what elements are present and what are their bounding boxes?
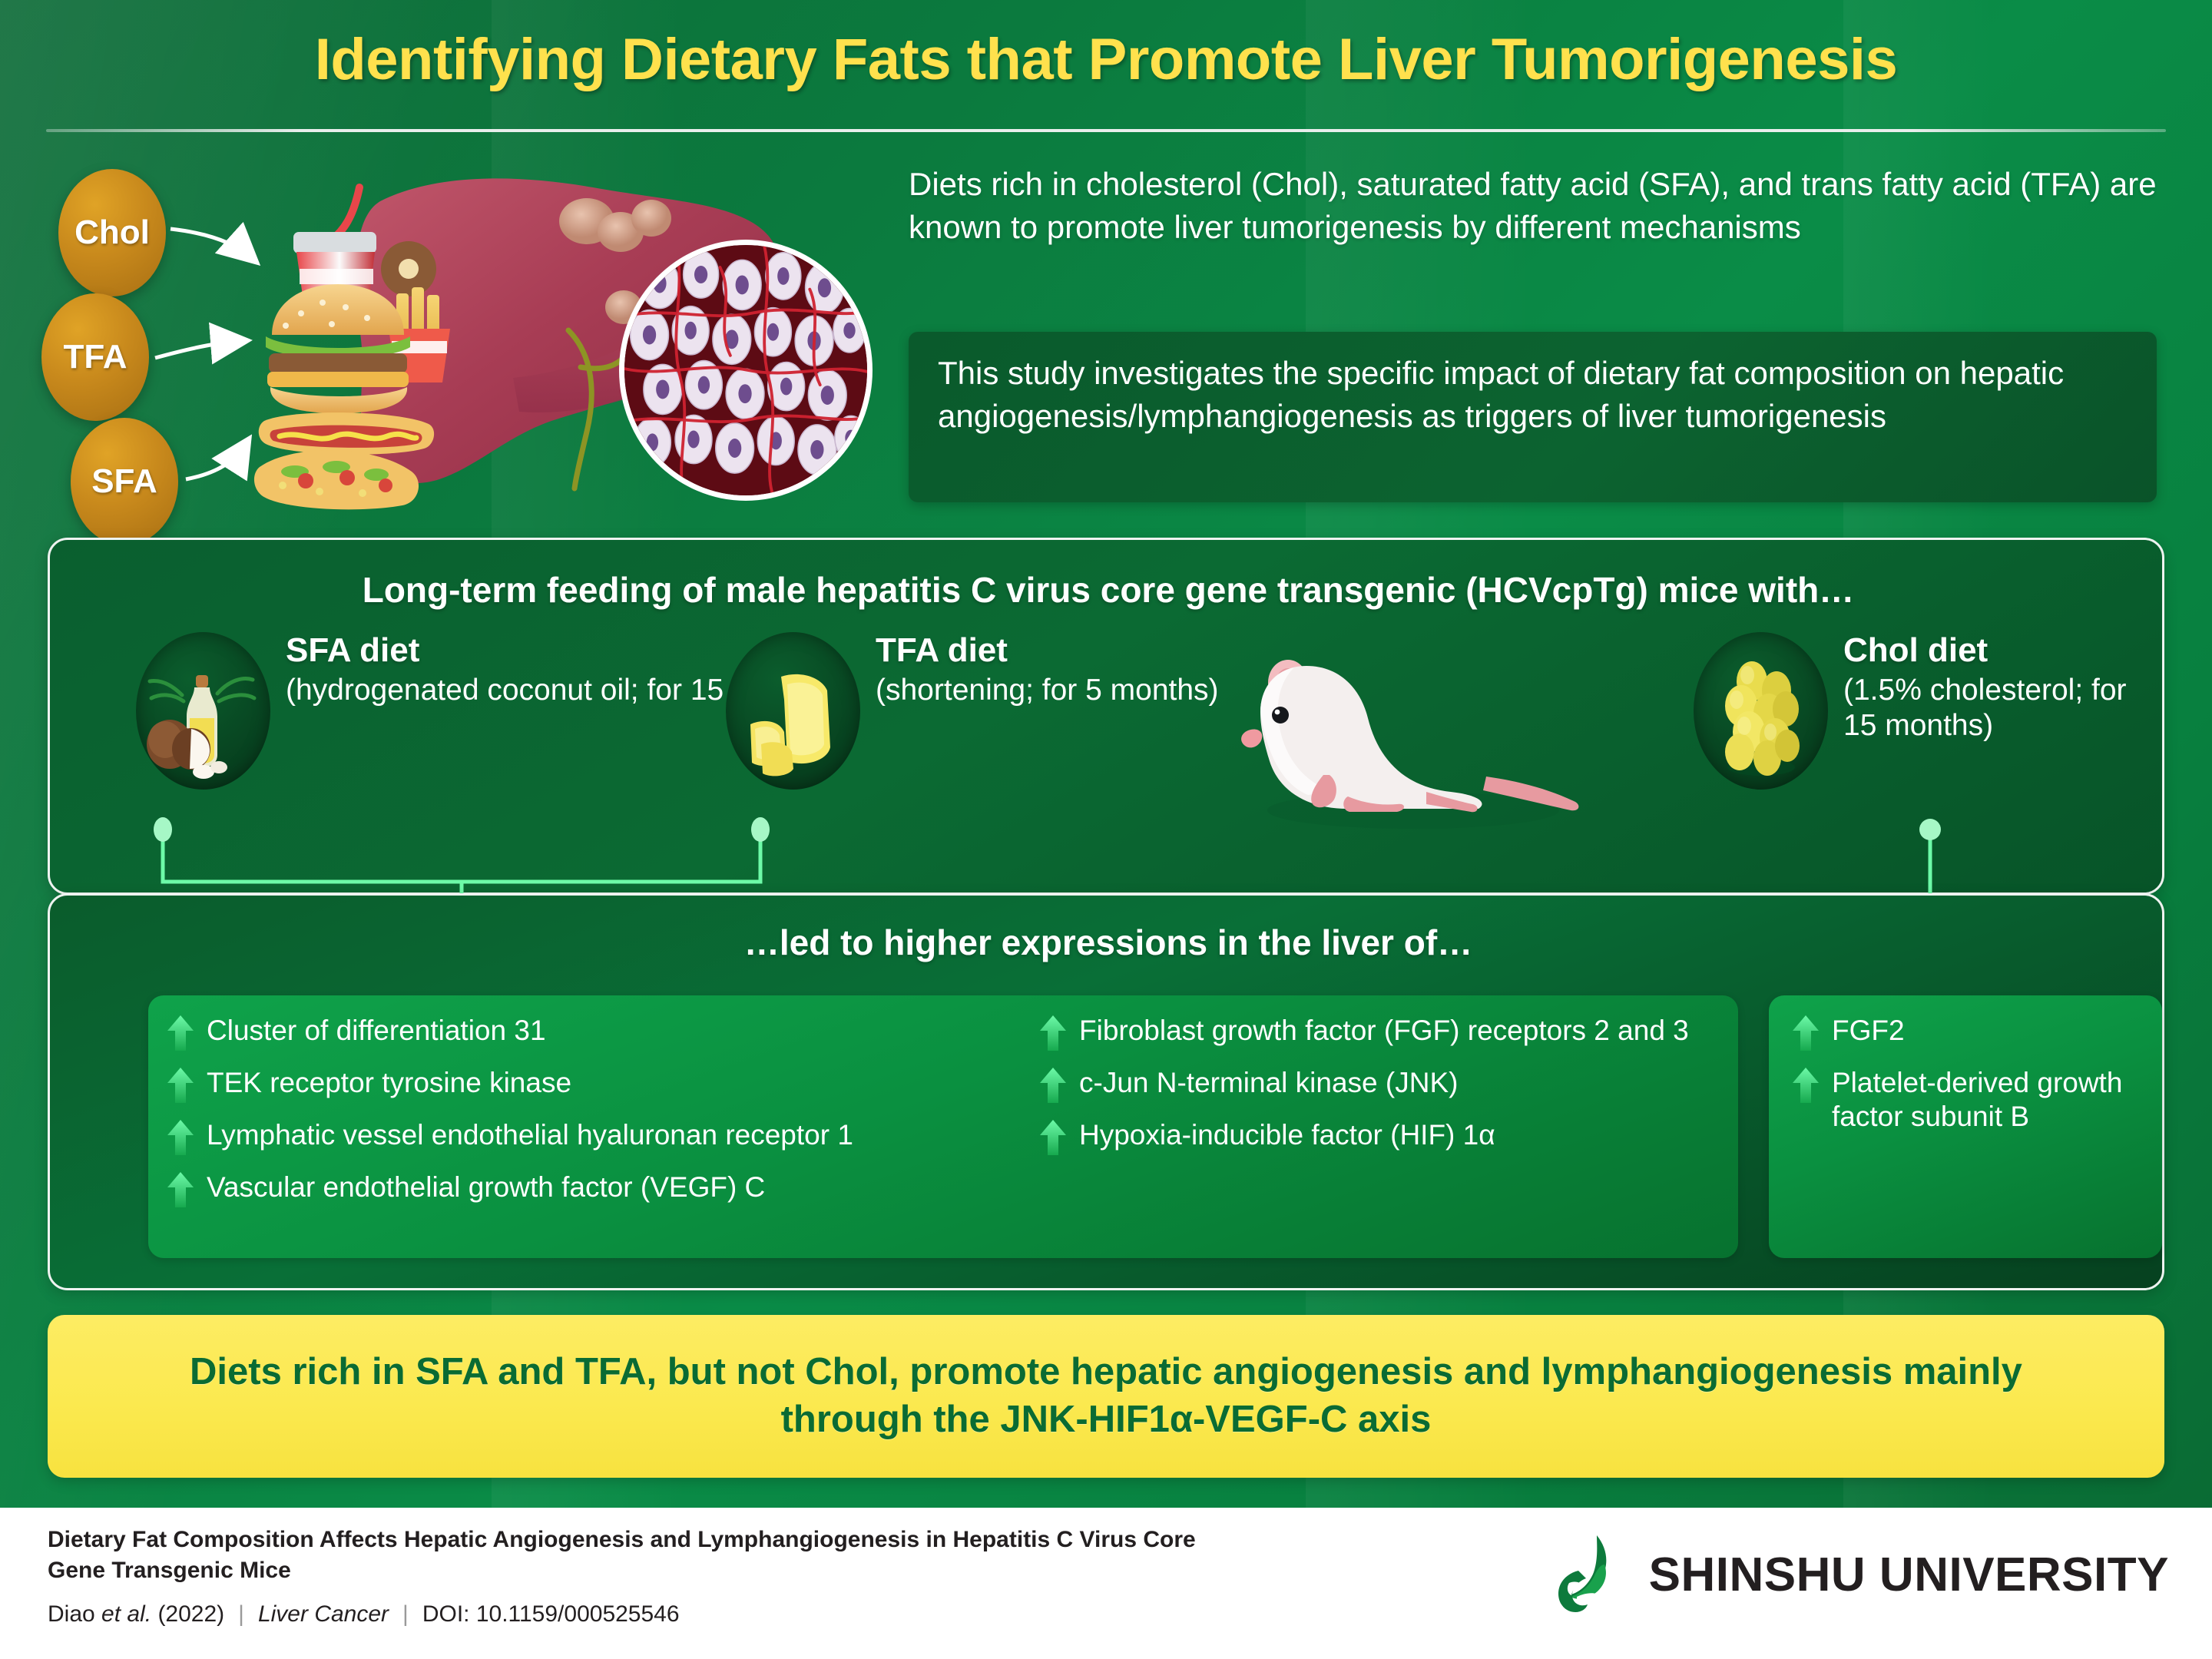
liver-illustration [246,147,876,524]
paper-journal: Liver Cancer [258,1601,389,1628]
cholesterol-crystals-icon [1694,632,1828,790]
gene-item: Vascular endothelial growth factor (VEGF… [167,1169,1042,1208]
gene-column-3: FGF2 Platelet-derived growth factor subu… [1792,1012,2153,1147]
shinshu-leaf-logo [1538,1529,1629,1620]
diet-chol-name: Chol diet [1843,632,2162,669]
tfa-badge: TFA [41,293,149,421]
gene-item: TEK receptor tyrosine kinase [167,1065,1042,1104]
gene-column-1: Cluster of differentiation 31 TEK recept… [167,1012,1042,1221]
footer: Dietary Fat Composition Affects Hepatic … [0,1508,2212,1659]
brand-lockup: SHINSHU UNIVERSITY [1538,1529,2169,1620]
feeding-heading: Long-term feeding of male hepatitis C vi… [50,569,2167,611]
study-statement-text: This study investigates the specific imp… [938,352,2128,438]
gene-label: FGF2 [1832,1012,1905,1048]
gene-item: FGF2 [1792,1012,2153,1051]
gene-card-main: Cluster of differentiation 31 TEK recept… [148,995,1738,1258]
diet-tfa: TFA diet (shortening; for 5 months) [726,632,1219,790]
liver-cell-micrograph-circle [619,240,873,501]
gene-column-2: Fibroblast growth factor (FGF) receptors… [1039,1012,1715,1169]
gene-label: Hypoxia-inducible factor (HIF) 1α [1079,1117,1495,1152]
gene-item: Fibroblast growth factor (FGF) receptors… [1039,1012,1715,1051]
gene-item: Hypoxia-inducible factor (HIF) 1α [1039,1117,1715,1156]
gene-label: Fibroblast growth factor (FGF) receptors… [1079,1012,1689,1048]
paper-authors: Diao [48,1601,95,1628]
gene-label: Vascular endothelial growth factor (VEGF… [207,1169,765,1204]
gene-label: TEK receptor tyrosine kinase [207,1065,571,1100]
expression-heading: …led to higher expressions in the liver … [50,922,2167,963]
gene-label: Platelet-derived growth factor subunit B [1832,1065,2153,1134]
laboratory-mouse-icon [1233,638,1594,830]
gene-label: Cluster of differentiation 31 [207,1012,546,1048]
up-arrow-icon [167,1119,194,1156]
paper-doi: DOI: 10.1159/000525546 [422,1601,680,1628]
meta-separator: | [402,1601,409,1628]
butter-shortening-icon [726,632,860,790]
diet-chol-detail: (1.5% cholesterol; for 15 months) [1843,673,2162,743]
footer-citation: Dietary Fat Composition Affects Hepatic … [48,1525,1230,1628]
title-divider [46,129,2166,132]
feeding-panel: Long-term feeding of male hepatitis C vi… [48,538,2164,895]
up-arrow-icon [167,1171,194,1208]
up-arrow-icon [167,1067,194,1104]
up-arrow-icon [1039,1119,1067,1156]
up-arrow-icon [1039,1067,1067,1104]
gene-card-chol: FGF2 Platelet-derived growth factor subu… [1769,995,2162,1258]
gene-item: c-Jun N-terminal kinase (JNK) [1039,1065,1715,1104]
gene-item: Platelet-derived growth factor subunit B [1792,1065,2153,1134]
gene-item: Cluster of differentiation 31 [167,1012,1042,1051]
poster-title: Identifying Dietary Fats that Promote Li… [0,26,2212,93]
hero-illustration: Chol TFA SFA [54,147,876,524]
study-statement-box: This study investigates the specific imp… [909,332,2157,502]
chol-badge: Chol [58,169,166,296]
tfa-badge-label: TFA [63,338,127,376]
gene-item: Lymphatic vessel endothelial hyaluronan … [167,1117,1042,1156]
diet-tfa-detail: (shortening; for 5 months) [876,673,1219,708]
fast-food-icon [246,171,568,516]
paper-etal: et al. [101,1601,151,1628]
meta-separator: | [238,1601,244,1628]
brand-name: SHINSHU UNIVERSITY [1649,1548,2169,1602]
diet-chol: Chol diet (1.5% cholesterol; for 15 mont… [1694,632,2162,790]
expression-panel: …led to higher expressions in the liver … [48,893,2164,1290]
paper-meta: Diao et al. (2022) | Liver Cancer | DOI:… [48,1601,1230,1628]
conclusion-box: Diets rich in SFA and TFA, but not Chol,… [48,1315,2164,1478]
sfa-badge-label: SFA [91,462,157,501]
infographic-poster: Identifying Dietary Fats that Promote Li… [0,0,2212,1659]
coconut-oil-icon [136,632,270,790]
up-arrow-icon [1039,1015,1067,1051]
paper-title: Dietary Fat Composition Affects Hepatic … [48,1525,1230,1586]
up-arrow-icon [1792,1015,1820,1051]
sfa-badge: SFA [71,418,178,545]
intro-paragraph: Diets rich in cholesterol (Chol), satura… [909,163,2157,249]
gene-label: Lymphatic vessel endothelial hyaluronan … [207,1117,853,1152]
paper-year: (2022) [157,1601,224,1628]
diet-tfa-name: TFA diet [876,632,1219,669]
up-arrow-icon [1792,1067,1820,1104]
gene-label: c-Jun N-terminal kinase (JNK) [1079,1065,1458,1100]
up-arrow-icon [167,1015,194,1051]
conclusion-text: Diets rich in SFA and TFA, but not Chol,… [140,1349,2072,1443]
chol-badge-label: Chol [75,214,150,252]
